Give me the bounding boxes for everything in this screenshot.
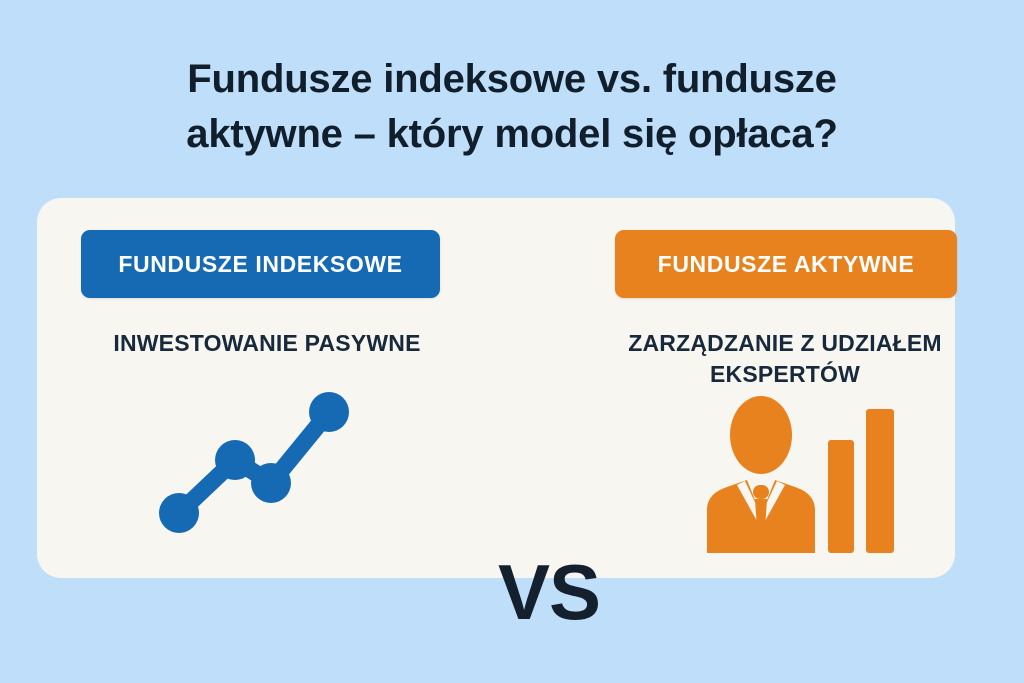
expert-with-bars-icon xyxy=(687,393,917,558)
comparison-card: FUNDUSZE INDEKSOWE INWESTOWANIE PASYWNE … xyxy=(37,198,955,578)
subtitle-active-funds: ZARZĄDZANIE Z UDZIAŁEM EKSPERTÓW xyxy=(585,328,985,390)
line-chart-icon xyxy=(147,388,377,553)
subtitle-index-funds-line-1: INWESTOWANIE PASYWNE xyxy=(37,328,497,359)
subtitle-active-funds-line-2: EKSPERTÓW xyxy=(585,359,985,390)
page-title-line-1: Fundusze indeksowe vs. fundusze xyxy=(0,52,1024,107)
page-title: Fundusze indeksowe vs. fundusze aktywne … xyxy=(0,52,1024,162)
badge-active-funds: FUNDUSZE AKTYWNE xyxy=(615,230,957,298)
page-title-line-2: aktywne – który model się opłaca? xyxy=(0,107,1024,162)
subtitle-active-funds-line-1: ZARZĄDZANIE Z UDZIAŁEM xyxy=(585,328,985,359)
vs-label: VS xyxy=(452,553,646,631)
subtitle-index-funds: INWESTOWANIE PASYWNE xyxy=(37,328,497,359)
badge-index-funds: FUNDUSZE INDEKSOWE xyxy=(81,230,440,298)
comparison-column-active-funds: FUNDUSZE AKTYWNE ZARZĄDZANIE Z UDZIAŁEM … xyxy=(537,198,955,578)
comparison-column-index-funds: FUNDUSZE INDEKSOWE INWESTOWANIE PASYWNE xyxy=(37,198,497,578)
